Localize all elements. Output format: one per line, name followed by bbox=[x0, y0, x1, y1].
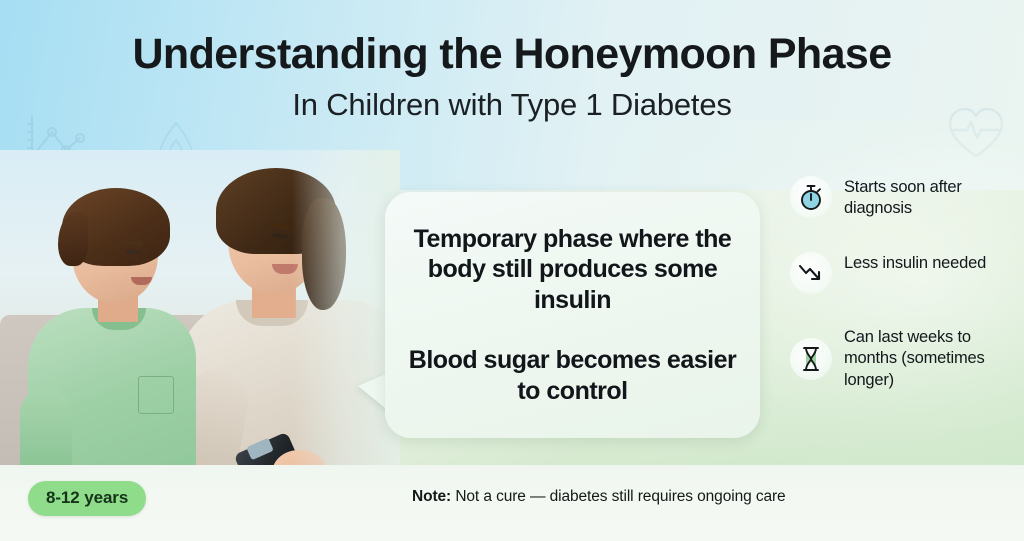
page-subtitle: In Children with Type 1 Diabetes bbox=[0, 88, 1024, 122]
speech-bubble: Temporary phase where the body still pro… bbox=[385, 192, 760, 438]
page-title: Understanding the Honeymoon Phase bbox=[0, 32, 1024, 78]
trend-down-arrow-icon bbox=[790, 252, 832, 294]
header: Understanding the Honeymoon Phase In Chi… bbox=[0, 32, 1024, 122]
footer-note: Note: Not a cure — diabetes still requir… bbox=[412, 488, 786, 506]
feature-list: Starts soon after diagnosis Less insulin… bbox=[790, 176, 1024, 391]
feature-item-starts-soon: Starts soon after diagnosis bbox=[790, 176, 1024, 220]
feature-label: Less insulin needed bbox=[844, 252, 986, 274]
infographic-canvas: Understanding the Honeymoon Phase In Chi… bbox=[0, 0, 1024, 541]
boy-hair-side bbox=[58, 212, 88, 266]
stopwatch-icon bbox=[790, 176, 832, 218]
bubble-paragraph-2: Blood sugar becomes easier to control bbox=[407, 345, 738, 406]
feature-label: Can last weeks to months (sometimes long… bbox=[844, 326, 1024, 391]
feature-label: Starts soon after diagnosis bbox=[844, 176, 1024, 220]
hourglass-icon bbox=[790, 338, 832, 380]
footer-note-label: Note: bbox=[412, 488, 451, 505]
feature-item-less-insulin: Less insulin needed bbox=[790, 252, 1024, 294]
feature-item-duration: Can last weeks to months (sometimes long… bbox=[790, 326, 1024, 391]
bubble-paragraph-1: Temporary phase where the body still pro… bbox=[407, 224, 738, 316]
footer-note-text: Not a cure — diabetes still requires ong… bbox=[451, 488, 785, 505]
boy-shirt-pocket bbox=[138, 376, 174, 414]
age-range-badge: 8-12 years bbox=[28, 481, 146, 516]
